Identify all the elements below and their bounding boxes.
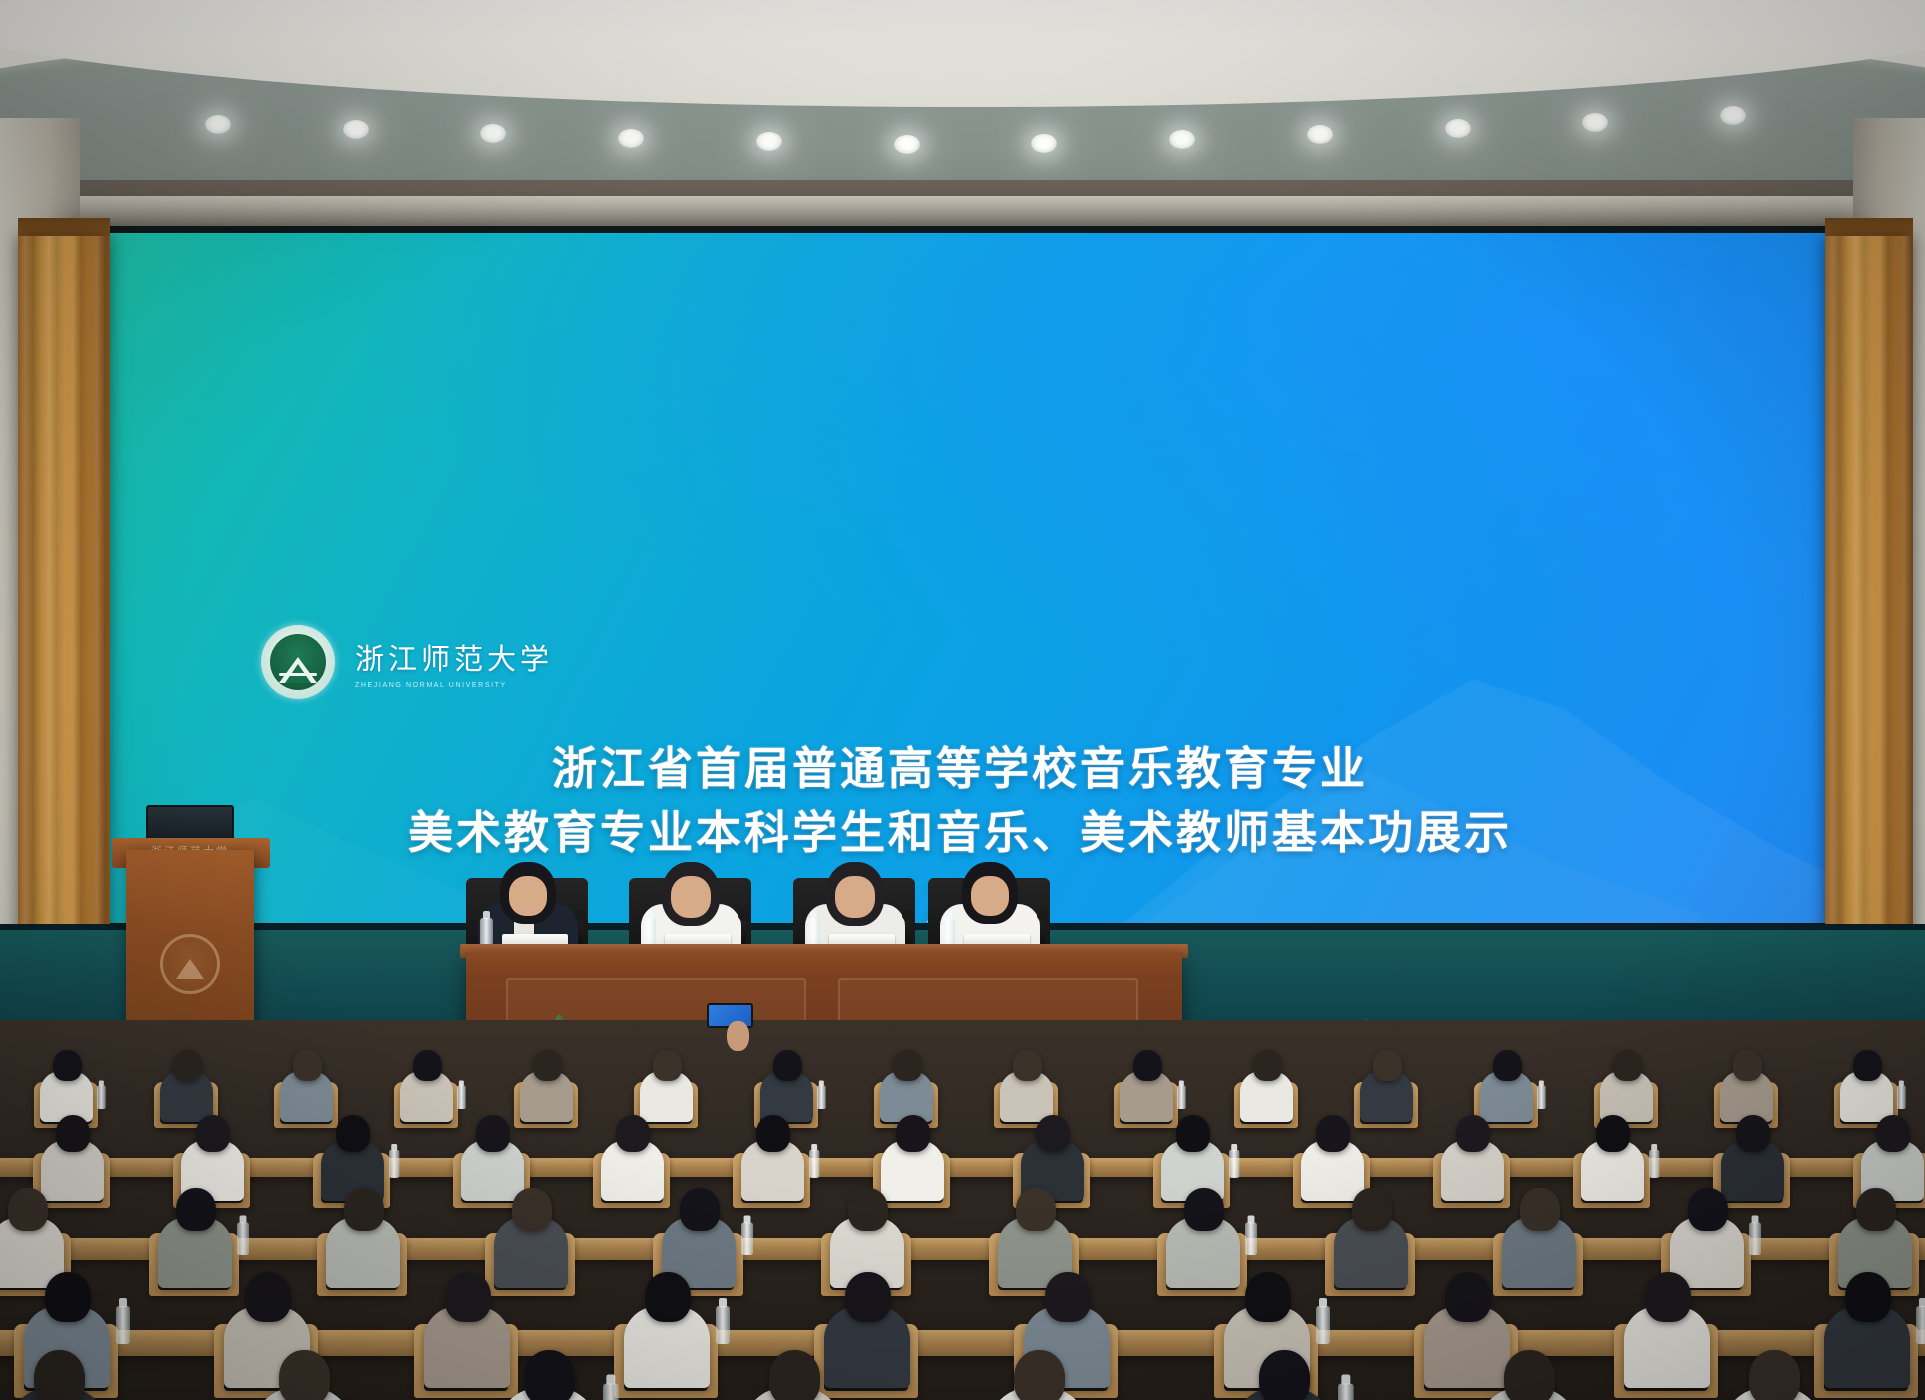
- audience-member-head: [1316, 1115, 1350, 1152]
- stage-curtain-left: [18, 236, 110, 1026]
- audience-member-head: [1733, 1050, 1762, 1081]
- audience-member-head: [8, 1188, 48, 1231]
- audience-member-head: [1445, 1272, 1491, 1322]
- audience-member-head: [1613, 1050, 1642, 1081]
- audience-member-head: [616, 1115, 650, 1152]
- photographer-hand: [727, 1021, 749, 1051]
- audience-member-head: [1493, 1050, 1522, 1081]
- ceiling-spotlight: [205, 115, 231, 134]
- audience-member-head: [1036, 1115, 1070, 1152]
- audience-member-head: [1259, 1350, 1311, 1400]
- audience-member-head: [1688, 1188, 1728, 1231]
- auditorium-scene: 浙江师范大学 ZHEJIANG NORMAL UNIVERSITY 浙江省首届普…: [0, 0, 1925, 1400]
- desk-water-bottle: [603, 1384, 619, 1400]
- ceiling-spotlight: [1169, 130, 1195, 149]
- audience-member-head: [1504, 1350, 1556, 1400]
- projection-screen: 浙江师范大学 ZHEJIANG NORMAL UNIVERSITY 浙江省首届普…: [67, 233, 1853, 923]
- desk-water-bottle: [116, 1306, 130, 1344]
- audience-member-head: [1845, 1272, 1891, 1322]
- desk-water-bottle: [97, 1086, 106, 1110]
- desk-water-bottle: [237, 1223, 249, 1256]
- audience-member-head: [344, 1188, 384, 1231]
- audience-member-head: [1245, 1272, 1291, 1322]
- desk-water-bottle: [1245, 1223, 1257, 1256]
- stage-curtain-right: [1825, 236, 1913, 1026]
- audience-desk: [0, 1238, 1925, 1260]
- audience-member-head: [1373, 1050, 1402, 1081]
- audience-member-head: [533, 1050, 562, 1081]
- audience-member-head: [1853, 1050, 1882, 1081]
- desk-water-bottle: [741, 1223, 753, 1256]
- audience-member-head: [1645, 1272, 1691, 1322]
- audience-member-head: [524, 1350, 576, 1400]
- desk-water-bottle: [1897, 1086, 1906, 1110]
- ceiling-spotlight: [618, 129, 644, 148]
- desk-water-bottle: [1177, 1086, 1186, 1110]
- desk-water-bottle: [457, 1086, 466, 1110]
- zjnu-emblem-icon: [261, 625, 335, 699]
- audience-member-head: [1856, 1188, 1896, 1231]
- desk-water-bottle: [1537, 1086, 1546, 1110]
- university-logo: 浙江师范大学 ZHEJIANG NORMAL UNIVERSITY: [261, 625, 553, 699]
- audience-member-head: [653, 1050, 682, 1081]
- audience-member-head: [1253, 1050, 1282, 1081]
- audience-member-head: [56, 1115, 90, 1152]
- audience-member-head: [336, 1115, 370, 1152]
- audience-member-head: [1184, 1188, 1224, 1231]
- audience-member-head: [769, 1350, 821, 1400]
- audience-member-head: [756, 1115, 790, 1152]
- audience-member-head: [1736, 1115, 1770, 1152]
- audience-member-head: [893, 1050, 922, 1081]
- projection-screen-frame: 浙江师范大学 ZHEJIANG NORMAL UNIVERSITY 浙江省首届普…: [60, 226, 1860, 930]
- desk-water-bottle: [1229, 1150, 1239, 1178]
- panelist-face: [835, 876, 875, 918]
- audience-member-head: [445, 1272, 491, 1322]
- ceiling-spotlight: [1720, 106, 1746, 125]
- desk-water-bottle: [1316, 1306, 1330, 1344]
- panelist-face: [971, 876, 1009, 916]
- audience-seating-area: [0, 1020, 1925, 1400]
- audience-member-head: [1133, 1050, 1162, 1081]
- audience-member-head: [279, 1350, 331, 1400]
- audience-member-head: [53, 1050, 82, 1081]
- desk-water-bottle: [1338, 1384, 1354, 1400]
- audience-member-head: [1876, 1115, 1910, 1152]
- audience-member-head: [293, 1050, 322, 1081]
- audience-member-head: [1456, 1115, 1490, 1152]
- audience-member-head: [1045, 1272, 1091, 1322]
- audience-member-head: [1014, 1350, 1066, 1400]
- audience-member-head: [1013, 1050, 1042, 1081]
- desk-water-bottle: [1916, 1306, 1925, 1344]
- audience-member-head: [1016, 1188, 1056, 1231]
- audience-member-head: [173, 1050, 202, 1081]
- desk-water-bottle: [389, 1150, 399, 1178]
- audience-member-head: [848, 1188, 888, 1231]
- desk-water-bottle: [1649, 1150, 1659, 1178]
- audience-member-head: [476, 1115, 510, 1152]
- slide-title-line-1: 浙江省首届普通高等学校音乐教育专业: [67, 738, 1853, 802]
- ceiling-spotlight: [343, 120, 369, 139]
- ceiling-spotlight: [1582, 113, 1608, 132]
- audience-member-head: [1520, 1188, 1560, 1231]
- logo-chinese-name: 浙江师范大学: [355, 636, 553, 678]
- audience-member-head: [1596, 1115, 1630, 1152]
- ceiling-spotlight: [1307, 125, 1333, 144]
- desk-water-bottle: [1749, 1223, 1761, 1256]
- audience-member-head: [45, 1272, 91, 1322]
- desk-water-bottle: [716, 1306, 730, 1344]
- audience-member-head: [773, 1050, 802, 1081]
- audience-member-head: [1749, 1350, 1801, 1400]
- audience-member-head: [680, 1188, 720, 1231]
- panelist-face: [671, 876, 711, 918]
- audience-member-head: [245, 1272, 291, 1322]
- ceiling-spotlight: [894, 135, 920, 154]
- ceiling-spotlight: [1445, 119, 1471, 138]
- audience-member-head: [413, 1050, 442, 1081]
- logo-english-name: ZHEJIANG NORMAL UNIVERSITY: [355, 682, 553, 689]
- audience-member-head: [1352, 1188, 1392, 1231]
- desk-water-bottle: [809, 1150, 819, 1178]
- audience-member-head: [176, 1188, 216, 1231]
- audience-member-head: [845, 1272, 891, 1322]
- audience-member-head: [645, 1272, 691, 1322]
- podium-emblem-icon: [160, 934, 220, 994]
- slide-title-line-2: 美术教育专业本科学生和音乐、美术教师基本功展示: [67, 802, 1853, 866]
- panelist-face: [509, 876, 547, 916]
- desk-water-bottle: [817, 1086, 826, 1110]
- audience-member-head: [896, 1115, 930, 1152]
- audience-member-head: [196, 1115, 230, 1152]
- audience-member-head: [512, 1188, 552, 1231]
- audience-member-head: [34, 1350, 86, 1400]
- audience-member-head: [1176, 1115, 1210, 1152]
